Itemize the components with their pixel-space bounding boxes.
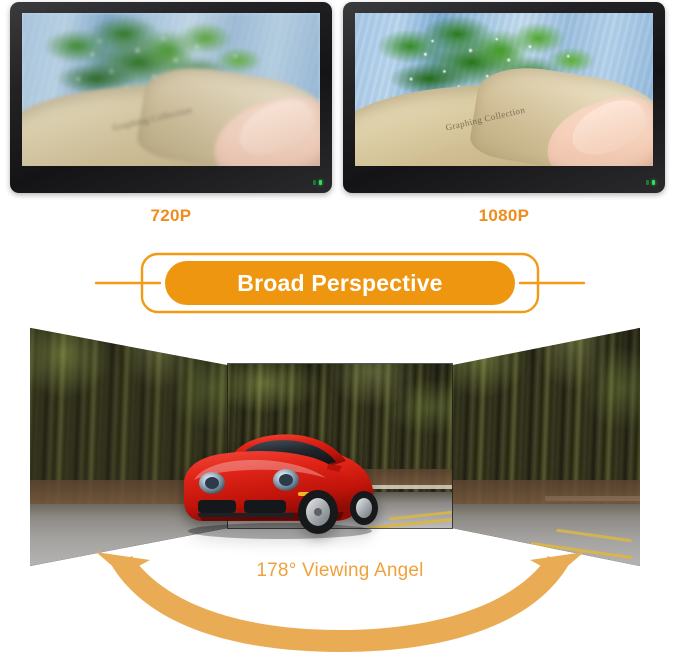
car-shadow	[188, 523, 372, 539]
viewing-angle-section: 178° Viewing Angel	[0, 0, 680, 659]
right-wing-display[interactable]	[450, 326, 640, 566]
viewing-angle-caption: 178° Viewing Angel	[0, 560, 680, 582]
car-headlight-left-lens	[205, 477, 219, 489]
red-sports-car	[168, 414, 398, 540]
car-rear-wheel-rim	[356, 498, 372, 518]
car-headlight-right-lens	[279, 474, 293, 486]
car-grille-right	[244, 500, 286, 513]
car-front-splitter	[198, 513, 294, 517]
car-grille-left	[198, 500, 236, 513]
car-front-hub	[314, 508, 322, 516]
